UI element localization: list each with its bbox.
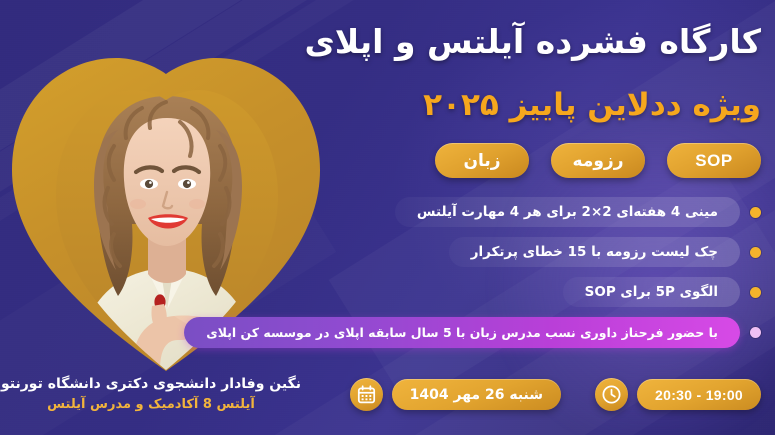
badge-language[interactable]: زبان (435, 143, 529, 178)
date-chip: شنبه 26 مهر 1404 (392, 379, 561, 410)
bullet-dot-icon (750, 247, 761, 258)
bullet-dot-icon (750, 327, 761, 338)
bullet-dot-icon (750, 207, 761, 218)
time-chip: 19:00 - 20:30 (637, 379, 761, 410)
feature-text: مینی 4 هفته‌ای 2×2 برای هر 4 مهارت آیلتس (395, 197, 740, 227)
calendar-icon (350, 378, 383, 411)
poster-title-line2: ویژه ددلاین پاییز ۲۰۲۵ (291, 88, 761, 122)
presenter-name: نگین وفادار دانشجوی دکتری دانشگاه تورنتو (0, 374, 302, 395)
presenter-subtitle: آیلتس 8 آکادمیک و مدرس آیلتس (0, 395, 302, 416)
feature-row: چک لیست رزومه با 15 خطای پرتکرار (13, 237, 761, 267)
feature-text: چک لیست رزومه با 15 خطای پرتکرار (449, 237, 740, 267)
bullet-dot-icon (750, 287, 761, 298)
topic-badges: SOP رزومه زبان (341, 143, 761, 178)
feature-text: با حضور فرحناز داوری نسب مدرس زبان با 5 … (184, 317, 740, 348)
feature-row-highlight: با حضور فرحناز داوری نسب مدرس زبان با 5 … (13, 317, 761, 348)
badge-sop[interactable]: SOP (667, 143, 761, 178)
feature-row: مینی 4 هفته‌ای 2×2 برای هر 4 مهارت آیلتس (13, 197, 761, 227)
schedule-bar: 19:00 - 20:30 شنبه 26 مهر 1404 (350, 378, 761, 411)
presenter-credit: نگین وفادار دانشجوی دکتری دانشگاه تورنتو… (0, 374, 302, 416)
poster-title-line1: کارگاه فشرده آیلتس و اپلای (291, 24, 761, 60)
feature-row: الگوی 5P برای SOP (13, 277, 761, 307)
clock-icon (595, 378, 628, 411)
badge-resume[interactable]: رزومه (551, 143, 645, 178)
feature-list: مینی 4 هفته‌ای 2×2 برای هر 4 مهارت آیلتس… (13, 197, 761, 348)
promo-poster: کارگاه فشرده آیلتس و اپلای ویژه ددلاین پ… (0, 0, 775, 435)
feature-text: الگوی 5P برای SOP (563, 277, 740, 307)
